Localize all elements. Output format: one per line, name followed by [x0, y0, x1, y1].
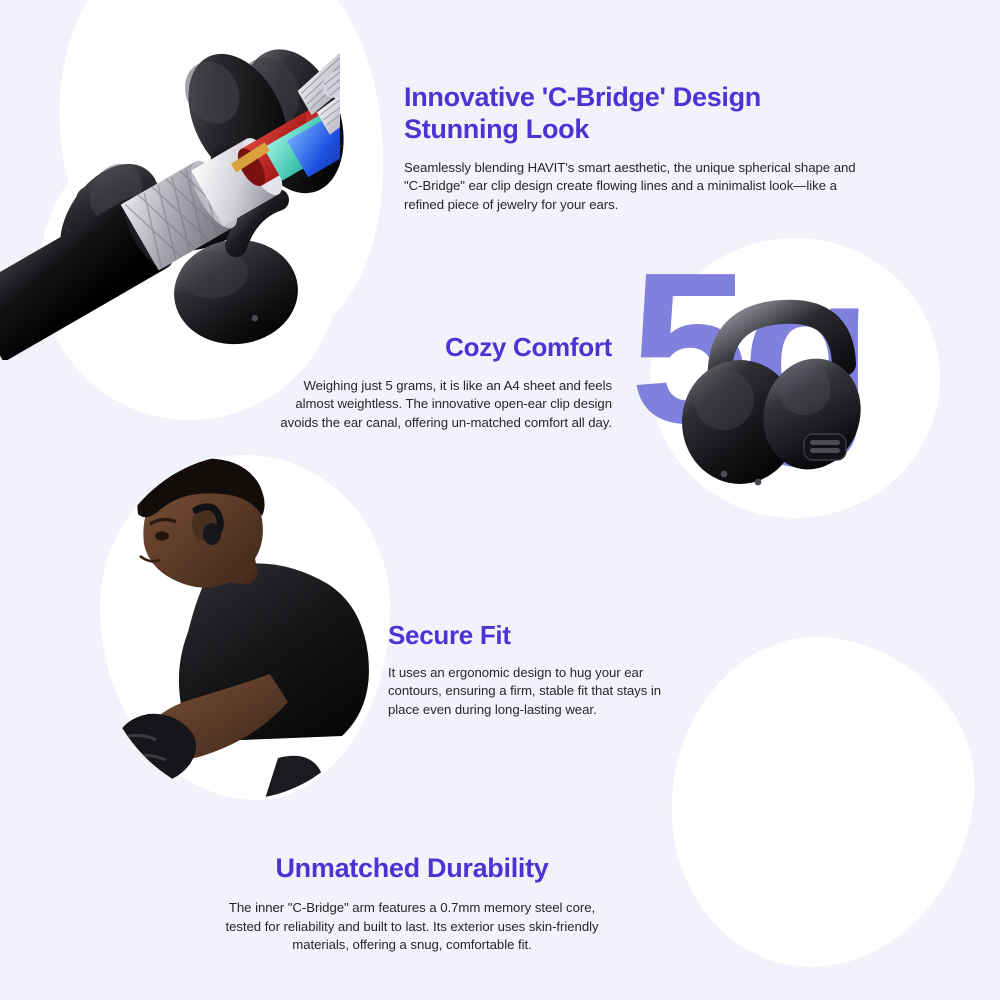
- feature-body-fit: It uses an ergonomic design to hug your …: [388, 664, 688, 720]
- charging-contact-grille: [804, 434, 846, 460]
- feature-title-durability: Unmatched Durability: [216, 853, 608, 885]
- athlete-eye: [155, 531, 169, 540]
- infographic-page: 5g: [0, 0, 1000, 1000]
- athlete-elbow-pad: [264, 756, 323, 802]
- feature-block-design: Innovative 'C-Bridge' Design Stunning Lo…: [404, 82, 856, 215]
- feature-title-fit: Secure Fit: [388, 620, 688, 651]
- sensor-hole: [755, 479, 762, 486]
- feature-block-comfort: Cozy Comfort Weighing just 5 grams, it i…: [262, 332, 612, 433]
- earbud-single-image: [662, 282, 892, 497]
- feature-title-comfort: Cozy Comfort: [262, 332, 612, 363]
- durability-image-backdrop: [650, 619, 993, 988]
- feature-body-comfort: Weighing just 5 grams, it is like an A4 …: [262, 377, 612, 433]
- cable-cutaway-image: [0, 0, 340, 365]
- feature-block-fit: Secure Fit It uses an ergonomic design t…: [388, 620, 688, 720]
- athlete-image: [92, 452, 392, 802]
- athlete-glove: [114, 714, 197, 783]
- feature-block-durability: Unmatched Durability The inner "C-Bridge…: [216, 853, 608, 955]
- microphone-hole: [721, 471, 728, 478]
- feature-title-design: Innovative 'C-Bridge' Design Stunning Lo…: [404, 82, 856, 146]
- feature-body-design: Seamlessly blending HAVIT's smart aesthe…: [404, 159, 856, 215]
- feature-body-durability: The inner "C-Bridge" arm features a 0.7m…: [216, 899, 608, 955]
